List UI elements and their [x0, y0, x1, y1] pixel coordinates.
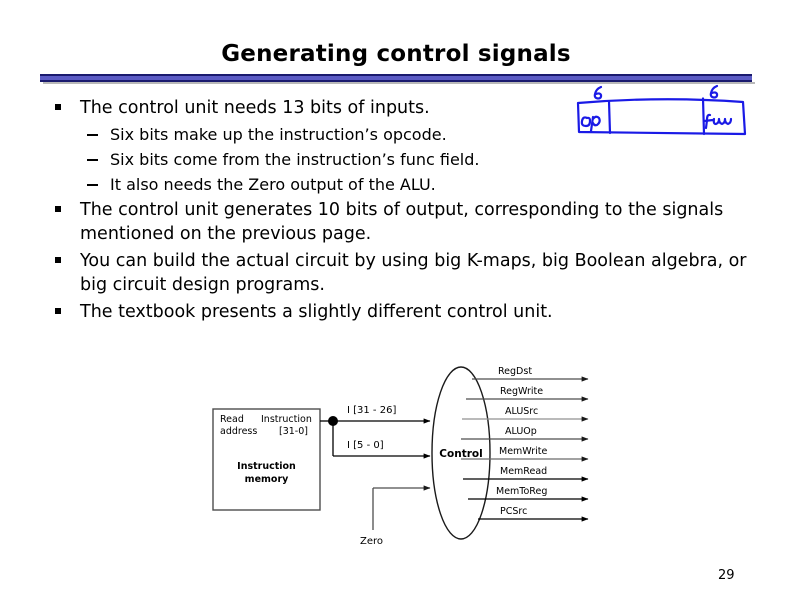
output-signal-pcsrc: PCSrc	[478, 506, 588, 519]
dash-bullet-icon	[87, 134, 98, 136]
bullet-item: You can build the actual circuit by usin…	[52, 249, 752, 297]
output-signal-regwrite: RegWrite	[466, 386, 588, 399]
bullet-text: It also needs the Zero output of the ALU…	[110, 175, 436, 194]
input-label-i5-0: I [5 - 0]	[347, 440, 384, 451]
annotation-op-p	[591, 117, 600, 131]
bullet-text: The control unit needs 13 bits of inputs…	[80, 98, 430, 118]
bullet-text: The textbook presents a slightly differe…	[80, 302, 553, 322]
output-label-aluop: ALUOp	[505, 426, 537, 437]
annotation-bits-right-glyph	[711, 86, 717, 98]
output-label-memtoreg: MemToReg	[496, 486, 547, 497]
bullet-text: You can build the actual circuit by usin…	[80, 251, 747, 295]
instruction-memory-read-label: Read	[220, 414, 244, 425]
instruction-memory-range-label: [31-0]	[279, 426, 308, 437]
control-unit-ellipse: Control	[432, 367, 490, 539]
annotation-func-crossbar	[704, 120, 713, 121]
zero-input-label: Zero	[360, 536, 383, 547]
annotation-divider-left	[609, 102, 610, 134]
output-signal-regdst: RegDst	[472, 366, 588, 379]
annotation-box-outline	[578, 99, 745, 134]
annotation-bits-left-glyph	[595, 87, 601, 99]
zero-input-wire	[373, 488, 430, 530]
input-label-i31-26: I [31 - 26]	[347, 405, 396, 416]
instruction-memory-block: Read address Instruction [31-0] Instruct…	[213, 409, 320, 510]
square-bullet-icon	[55, 257, 61, 263]
instruction-memory-title-line2: memory	[245, 474, 289, 485]
bullet-text: The control unit generates 10 bits of ou…	[80, 200, 723, 244]
output-label-pcsrc: PCSrc	[500, 506, 527, 517]
output-label-regdst: RegDst	[498, 366, 532, 377]
bullet-text: Six bits come from the instruction’s fun…	[110, 150, 480, 169]
instruction-memory-instruction-label: Instruction	[261, 414, 312, 425]
control-unit-diagram: Read address Instruction [31-0] Instruct…	[195, 358, 615, 558]
dash-bullet-icon	[87, 184, 98, 186]
bullet-item: The textbook presents a slightly differe…	[52, 300, 752, 324]
divider-bottom-edge	[40, 80, 752, 82]
bullet-item: The control unit generates 10 bits of ou…	[52, 198, 752, 246]
title-divider	[40, 74, 752, 83]
square-bullet-icon	[55, 104, 61, 110]
handwritten-instruction-field-annotation	[570, 84, 755, 142]
instruction-memory-title-line1: Instruction	[237, 461, 296, 472]
page-title: Generating control signals	[0, 40, 792, 68]
instruction-memory-address-label: address	[220, 426, 257, 437]
instruction-bus-junction-dot	[328, 416, 338, 426]
bullet-item: It also needs the Zero output of the ALU…	[52, 173, 752, 197]
bullet-text: Six bits make up the instruction’s opcod…	[110, 125, 447, 144]
output-label-regwrite: RegWrite	[500, 386, 543, 397]
dash-bullet-icon	[87, 159, 98, 161]
square-bullet-icon	[55, 206, 61, 212]
output-label-memwrite: MemWrite	[499, 446, 548, 457]
annotation-op-o	[582, 117, 590, 126]
square-bullet-icon	[55, 308, 61, 314]
output-label-alusrc: ALUSrc	[505, 406, 538, 417]
annotation-divider-right	[703, 99, 704, 135]
annotation-func-unc	[714, 119, 731, 124]
bullet-item: Six bits come from the instruction’s fun…	[52, 148, 752, 172]
output-label-memread: MemRead	[500, 466, 547, 477]
page-number: 29	[718, 568, 735, 583]
control-unit-label: Control	[439, 448, 482, 460]
